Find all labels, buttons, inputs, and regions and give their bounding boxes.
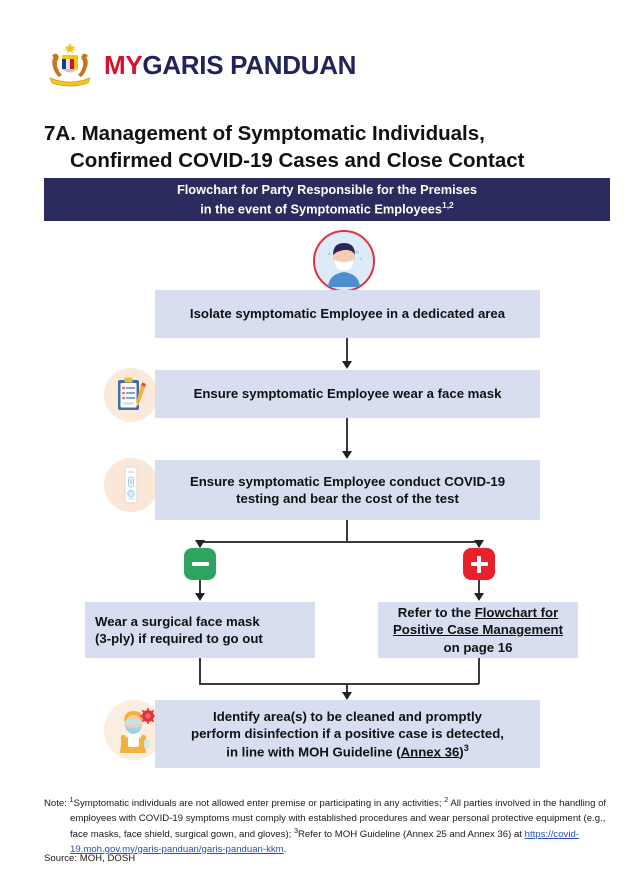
arrowhead-isolate-to-mask <box>342 361 352 369</box>
minus-icon <box>192 562 209 567</box>
connector-positive-down <box>478 658 480 684</box>
step-isolate-text: Isolate symptomatic Employee in a dedica… <box>190 305 505 322</box>
step-positive-text: Refer to the Flowchart forPositive Case … <box>393 604 563 656</box>
connector-mask-to-test <box>346 418 348 452</box>
step-isolate-box: Isolate symptomatic Employee in a dedica… <box>155 290 540 338</box>
masked-person-icon <box>313 230 375 292</box>
footnote-text-3: Refer to MOH Guideline (Annex 25 and Ann… <box>298 829 525 840</box>
negative-result-badge <box>184 548 216 580</box>
positive-result-badge <box>463 548 495 580</box>
clipboard-checklist-icon <box>104 368 158 422</box>
footnote-body: Note: 1Symptomatic individuals are not a… <box>44 795 610 857</box>
step-disinfection-line1: Identify area(s) to be cleaned and promp… <box>213 709 482 724</box>
step-negative-text: Wear a surgical face mask(3-ply) if requ… <box>95 613 263 648</box>
step-positive-box: Refer to the Flowchart forPositive Case … <box>378 602 578 658</box>
footnotes: Note: 1Symptomatic individuals are not a… <box>44 795 610 857</box>
footnote-text-1: Symptomatic individuals are not allowed … <box>74 798 445 809</box>
arrowhead-negative-box <box>195 593 205 601</box>
arrowhead-mask-to-test <box>342 451 352 459</box>
step-face-mask-text: Ensure symptomatic Employee wear a face … <box>194 385 502 402</box>
step-testing-line2: testing and bear the cost of the test <box>236 491 459 506</box>
step-negative-line1: Wear a surgical face mask <box>95 614 260 629</box>
connector-isolate-to-mask <box>346 338 348 362</box>
annex-36-link[interactable]: Annex 36 <box>401 744 460 759</box>
step-disinfection-line3-pre: in line with MOH Guideline ( <box>226 744 400 759</box>
step-positive-line3: on page 16 <box>444 640 513 655</box>
connector-test-stem <box>346 520 348 542</box>
step-testing-box: Ensure symptomatic Employee conduct COVI… <box>155 460 540 520</box>
arrowhead-to-disinfect <box>342 692 352 700</box>
step-testing-line1: Ensure symptomatic Employee conduct COVI… <box>190 474 505 489</box>
step-testing-text: Ensure symptomatic Employee conduct COVI… <box>190 473 505 508</box>
step-positive-line1-pre: Refer to the <box>398 605 475 620</box>
footnote-label: Note: <box>44 798 70 809</box>
connector-negative-down <box>199 658 201 684</box>
flowchart: Isolate symptomatic Employee in a dedica… <box>0 0 644 871</box>
footnote-text-end: . <box>284 844 287 855</box>
step-disinfection-box: Identify area(s) to be cleaned and promp… <box>155 700 540 768</box>
step-disinfection-line2: perform disinfection if a positive case … <box>191 726 504 741</box>
plus-icon-vertical <box>477 556 482 573</box>
arrowhead-to-positive-badge <box>474 540 484 548</box>
source-line: Source: MOH, DOSH <box>44 853 135 864</box>
step-negative-box: Wear a surgical face mask(3-ply) if requ… <box>85 602 315 658</box>
disinfection-footnote-ref: 3 <box>464 743 469 753</box>
rapid-test-kit-icon <box>104 458 158 512</box>
page-root: MYGARIS PANDUAN 7A. Management of Sympto… <box>0 0 644 871</box>
step-disinfection-text: Identify area(s) to be cleaned and promp… <box>191 708 504 761</box>
arrowhead-to-negative-badge <box>195 540 205 548</box>
arrowhead-positive-box <box>474 593 484 601</box>
connector-merge <box>199 683 479 685</box>
positive-flowchart-link-part1[interactable]: Flowchart for <box>475 605 559 620</box>
positive-flowchart-link-part2[interactable]: Positive Case Management <box>393 622 563 637</box>
connector-test-split <box>199 541 479 543</box>
step-negative-line2: (3-ply) if required to go out <box>95 631 263 646</box>
step-face-mask-box: Ensure symptomatic Employee wear a face … <box>155 370 540 418</box>
